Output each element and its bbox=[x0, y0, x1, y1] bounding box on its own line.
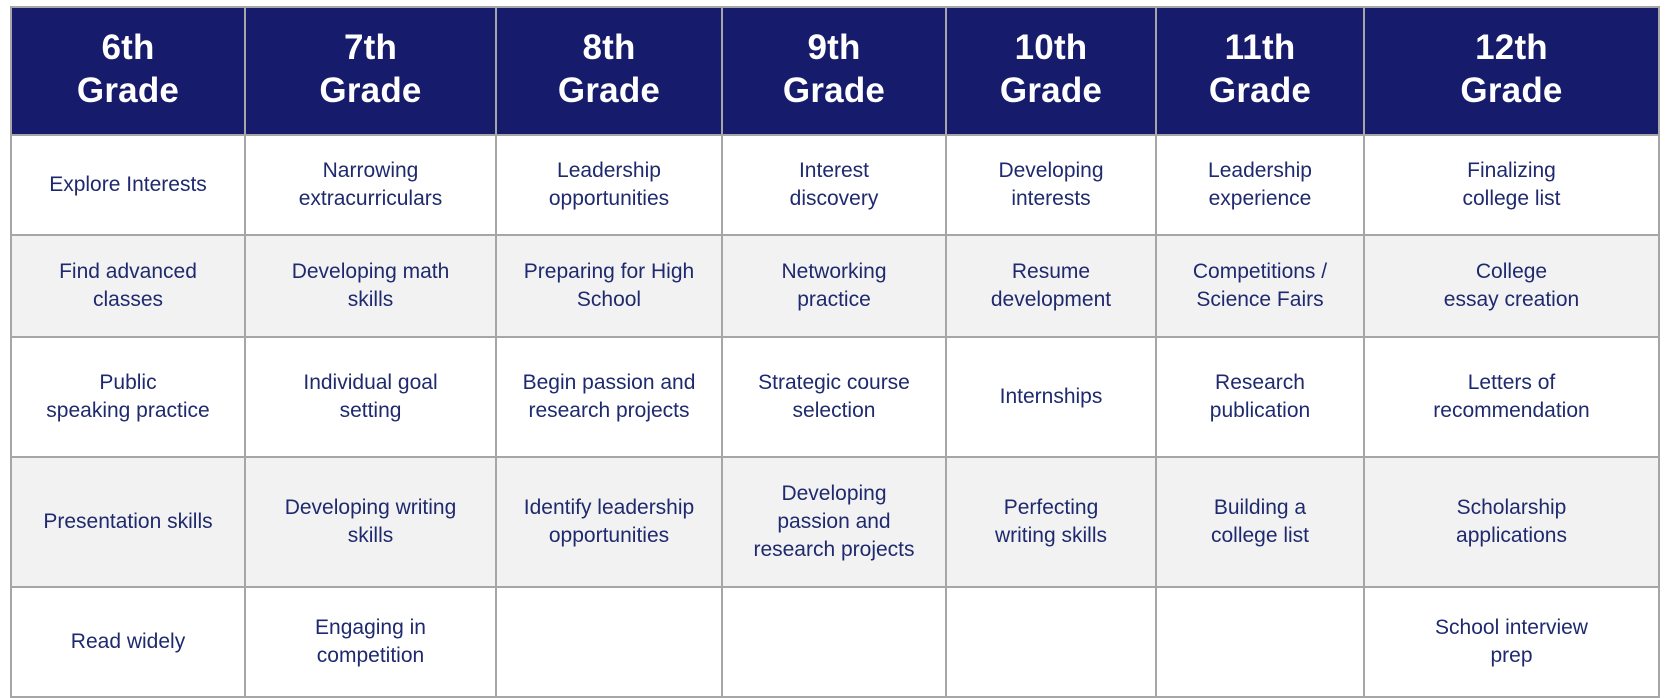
cell-grade-10-5 bbox=[946, 587, 1156, 697]
cell-grade-8-4: Identify leadership opportunities bbox=[496, 457, 722, 587]
cell-grade-9-2: Networking practice bbox=[722, 235, 946, 337]
grade-milestones-table: 6th Grade 7th Grade 8th Grade 9th Grade … bbox=[10, 6, 1660, 698]
table-header: 6th Grade 7th Grade 8th Grade 9th Grade … bbox=[11, 7, 1659, 135]
cell-grade-6-3: Public speaking practice bbox=[11, 337, 245, 457]
column-header-grade-8: 8th Grade bbox=[496, 7, 722, 135]
cell-grade-12-4: Scholarship applications bbox=[1364, 457, 1659, 587]
cell-grade-10-4: Perfecting writing skills bbox=[946, 457, 1156, 587]
grade-planning-table-sheet: 6th Grade 7th Grade 8th Grade 9th Grade … bbox=[0, 0, 1668, 660]
table-row: Find advanced classes Developing math sk… bbox=[11, 235, 1659, 337]
cell-grade-11-4: Building a college list bbox=[1156, 457, 1364, 587]
cell-grade-8-3: Begin passion and research projects bbox=[496, 337, 722, 457]
cell-grade-6-4: Presentation skills bbox=[11, 457, 245, 587]
column-header-grade-11: 11th Grade bbox=[1156, 7, 1364, 135]
cell-grade-7-3: Individual goal setting bbox=[245, 337, 496, 457]
cell-grade-11-5 bbox=[1156, 587, 1364, 697]
column-header-grade-10: 10th Grade bbox=[946, 7, 1156, 135]
cell-grade-6-2: Find advanced classes bbox=[11, 235, 245, 337]
table-row: Presentation skills Developing writing s… bbox=[11, 457, 1659, 587]
cell-grade-6-5: Read widely bbox=[11, 587, 245, 697]
column-header-grade-7: 7th Grade bbox=[245, 7, 496, 135]
cell-grade-11-3: Research publication bbox=[1156, 337, 1364, 457]
cell-grade-8-1: Leadership opportunities bbox=[496, 135, 722, 235]
column-header-grade-12: 12th Grade bbox=[1364, 7, 1659, 135]
column-header-grade-6: 6th Grade bbox=[11, 7, 245, 135]
cell-grade-12-5: School interview prep bbox=[1364, 587, 1659, 697]
cell-grade-11-2: Competitions / Science Fairs bbox=[1156, 235, 1364, 337]
cell-grade-9-5 bbox=[722, 587, 946, 697]
cell-grade-6-1: Explore Interests bbox=[11, 135, 245, 235]
header-row: 6th Grade 7th Grade 8th Grade 9th Grade … bbox=[11, 7, 1659, 135]
cell-grade-9-1: Interest discovery bbox=[722, 135, 946, 235]
cell-grade-10-2: Resume development bbox=[946, 235, 1156, 337]
table-body: Explore Interests Narrowing extracurricu… bbox=[11, 135, 1659, 697]
column-header-grade-9: 9th Grade bbox=[722, 7, 946, 135]
cell-grade-8-2: Preparing for High School bbox=[496, 235, 722, 337]
cell-grade-11-1: Leadership experience bbox=[1156, 135, 1364, 235]
cell-grade-12-2: College essay creation bbox=[1364, 235, 1659, 337]
cell-grade-9-3: Strategic course selection bbox=[722, 337, 946, 457]
table-row: Explore Interests Narrowing extracurricu… bbox=[11, 135, 1659, 235]
cell-grade-7-1: Narrowing extracurriculars bbox=[245, 135, 496, 235]
table-row: Read widely Engaging in competition Scho… bbox=[11, 587, 1659, 697]
cell-grade-8-5 bbox=[496, 587, 722, 697]
cell-grade-7-4: Developing writing skills bbox=[245, 457, 496, 587]
table-row: Public speaking practice Individual goal… bbox=[11, 337, 1659, 457]
cell-grade-10-3: Internships bbox=[946, 337, 1156, 457]
cell-grade-7-5: Engaging in competition bbox=[245, 587, 496, 697]
cell-grade-9-4: Developing passion and research projects bbox=[722, 457, 946, 587]
cell-grade-12-3: Letters of recommendation bbox=[1364, 337, 1659, 457]
cell-grade-10-1: Developing interests bbox=[946, 135, 1156, 235]
cell-grade-7-2: Developing math skills bbox=[245, 235, 496, 337]
cell-grade-12-1: Finalizing college list bbox=[1364, 135, 1659, 235]
